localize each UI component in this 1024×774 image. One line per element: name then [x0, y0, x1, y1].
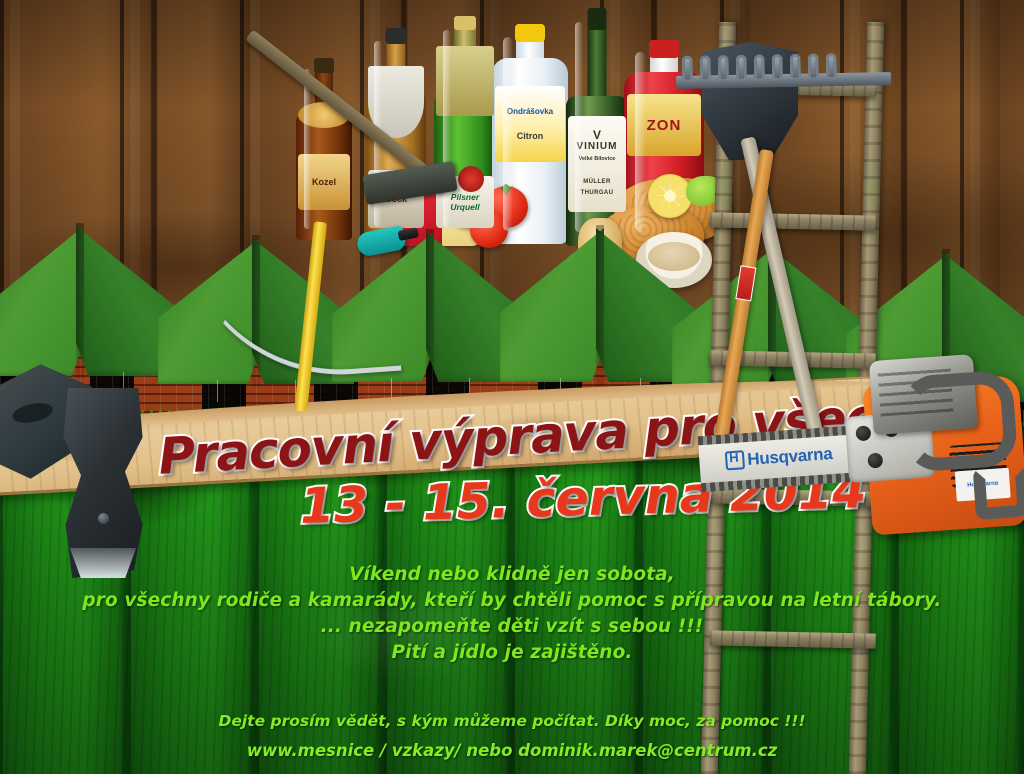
body-line-2: pro všechny rodiče a kamarády, kteří by … [0, 588, 1024, 614]
husqvarna-crown-icon [725, 450, 745, 470]
rake [676, 56, 892, 96]
bottle-seal-pilsner [458, 166, 484, 192]
body-line-3: ... nezapomeňte děti vzít s sebou !!! [0, 614, 1024, 640]
tent-4 [500, 228, 700, 382]
bottle-label-zon: ZON [627, 94, 701, 156]
chainsaw-handle [900, 369, 1018, 473]
tent-1 [0, 226, 178, 376]
poster-canvas: Kozel Bock Pilsner Urquell [0, 0, 1024, 774]
pickaxe [196, 168, 456, 398]
bottle-label-ondrasovka: Ondrášovka Citron [495, 86, 565, 162]
bottle-vinium: V VINIUM Velké Bílovice MÜLLER THURGAU [566, 8, 628, 246]
bottle-label-vinium: V VINIUM Velké Bílovice MÜLLER THURGAU [568, 116, 625, 212]
vinium-variety: MÜLLER THURGAU [572, 177, 621, 199]
bottle-label-ondrasovka-brand: Ondrášovka [507, 106, 553, 117]
bottle-label-ondrasovka-flavor: Citron [517, 131, 544, 142]
chainsaw: Husqvarna Husqvarna [693, 353, 1024, 575]
poster-contact-block: Dejte prosím vědět, s kým můžeme počítat… [0, 706, 1024, 766]
bottle-neck-label-pilsner [436, 46, 493, 116]
contact-url-line[interactable]: www.mesnice / vzkazy/ nebo dominik.marek… [0, 736, 1024, 766]
vinium-brand: VINIUM [576, 141, 617, 152]
vinium-mark: V [593, 130, 601, 141]
chainsaw-rear-handle [973, 465, 1024, 521]
chainsaw-brand-text: Husqvarna [747, 444, 833, 470]
contact-request-line: Dejte prosím vědět, s kým můžeme počítat… [0, 706, 1024, 736]
vinium-sub: Velké Bílovice [579, 154, 616, 165]
body-line-4: Pití a jídlo je zajištěno. [0, 640, 1024, 666]
axe [48, 388, 158, 578]
